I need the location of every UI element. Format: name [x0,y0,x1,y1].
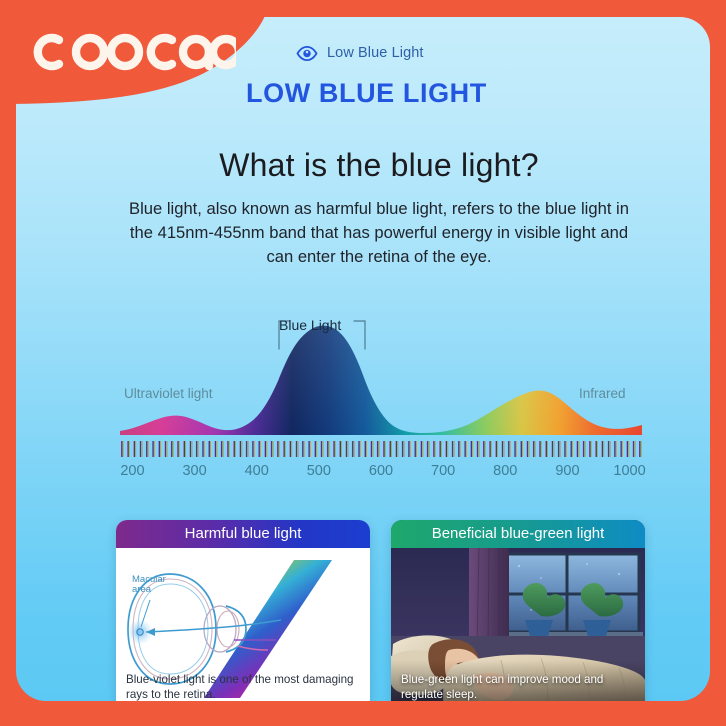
card-harmful-blue-light[interactable]: Harmful blue light [116,520,370,701]
spectrum-tick-mark [502,441,505,457]
spectrum-tick-mark [545,441,548,457]
spectrum-tick-mark [208,441,211,457]
spectrum-tick-mark [364,441,367,457]
spectrum-tick-mark [633,441,636,457]
card-beneficial-blue-green-light[interactable]: Beneficial blue-green light [391,520,645,701]
spectrum-tick-mark [514,441,517,457]
spectrum-tick-mark [165,441,168,457]
ultraviolet-light-label: Ultraviolet light [124,386,213,401]
spectrum-tick-mark [158,441,161,457]
spectrum-tick-mark [452,441,455,457]
card-beneficial-body: Blue-green light can improve mood and re… [391,548,645,701]
spectrum-tick-mark [227,441,230,457]
spectrum-tick-mark [595,441,598,457]
macular-area-label-line2: area [132,584,152,595]
spectrum-tick-mark [252,441,255,457]
spectrum-axis-tick-label: 500 [307,463,331,479]
spectrum-tick-mark [558,441,561,457]
spectrum-axis-tick-label: 300 [182,463,206,479]
coocaa-logo [26,28,236,76]
spectrum-tick-mark [421,441,424,457]
spectrum-tick-mark [339,441,342,457]
spectrum-tick-mark [152,441,155,457]
spectrum-tick-mark [352,441,355,457]
spectrum-tick-mark [533,441,536,457]
spectrum-tick-mark [627,441,630,457]
spectrum-tick-mark [520,441,523,457]
spectrum-tick-mark [446,441,449,457]
spectrum-axis-tick-label: 200 [120,463,144,479]
spectrum-tick-bar [121,441,642,457]
spectrum-tick-mark [477,441,480,457]
spectrum-tick-mark [190,441,193,457]
spectrum-tick-mark [396,441,399,457]
spectrum-tick-mark [402,441,405,457]
spectrum-tick-mark [427,441,430,457]
card-harmful-title: Harmful blue light [116,520,370,548]
spectrum-tick-mark [620,441,623,457]
spectrum-tick-mark [470,441,473,457]
spectrum-tick-mark [377,441,380,457]
spectrum-tick-mark [414,441,417,457]
spectrum-axis-tick-label: 1000 [613,463,645,479]
spectrum-tick-mark [327,441,330,457]
spectrum-axis-tick-label: 600 [369,463,393,479]
spectrum-tick-mark [527,441,530,457]
spectrum-tick-mark [215,441,218,457]
spectrum-tick-mark [127,441,130,457]
spectrum-tick-mark [302,441,305,457]
spectrum-tick-mark [308,441,311,457]
spectrum-tick-mark [552,441,555,457]
spectrum-tick-mark [439,441,442,457]
spectrum-tick-mark [314,441,317,457]
spectrum-tick-mark [296,441,299,457]
spectrum-axis-tick-label: 400 [245,463,269,479]
spectrum-curve-fill [120,313,642,437]
badge-label: Low Blue Light [327,45,424,61]
intro-paragraph: Blue light, also known as harmful blue l… [116,197,642,269]
page-title: What is the blue light? [16,147,710,184]
spectrum-tick-mark [464,441,467,457]
spectrum-tick-mark [358,441,361,457]
spectrum-tick-mark [277,441,280,457]
spectrum-tick-mark [140,441,143,457]
spectrum-axis-tick-label: 700 [431,463,455,479]
spectrum-tick-mark [383,441,386,457]
spectrum-tick-mark [183,441,186,457]
spectrum-tick-mark [202,441,205,457]
spectrum-tick-mark [233,441,236,457]
spectrum-tick-mark [389,441,392,457]
spectrum-tick-mark [346,441,349,457]
spectrum-tick-mark [283,441,286,457]
spectrum-tick-mark [146,441,149,457]
kicker-title: LOW BLUE LIGHT [246,78,487,109]
spectrum-tick-mark [564,441,567,457]
spectrum-tick-mark [458,441,461,457]
spectrum-tick-mark [265,441,268,457]
card-beneficial-caption: Blue-green light can improve mood and re… [401,672,637,701]
spectrum-tick-mark [589,441,592,457]
spectrum-tick-mark [433,441,436,457]
low-blue-light-badge[interactable]: Low Blue Light [296,45,424,61]
content-panel: 2003004005006007008009001000 Ultraviolet… [16,17,710,701]
spectrum-axis-tick-label: 800 [493,463,517,479]
spectrum-tick-mark [489,441,492,457]
spectrum-tick-mark [196,441,199,457]
card-harmful-caption: Blue-violet light is one of the most dam… [126,672,362,701]
spectrum-tick-mark [639,441,642,457]
spectrum-tick-mark [539,441,542,457]
spectrum-tick-mark [495,441,498,457]
spectrum-tick-mark [614,441,617,457]
infrared-label: Infrared [579,386,626,401]
spectrum-tick-mark [133,441,136,457]
spectrum-tick-mark [608,441,611,457]
spectrum-tick-mark [333,441,336,457]
spectrum-tick-mark [371,441,374,457]
blue-light-label: Blue Light [279,317,341,333]
spectrum-tick-mark [508,441,511,457]
spectrum-tick-mark [246,441,249,457]
spectrum-tick-mark [483,441,486,457]
card-beneficial-title: Beneficial blue-green light [391,520,645,548]
card-harmful-body: Macular area Blue-violet light is one of… [116,548,370,701]
spectrum-tick-mark [240,441,243,457]
spectrum-tick-mark [290,441,293,457]
spectrum-tick-mark [258,441,261,457]
infographic-poster: 2003004005006007008009001000 Ultraviolet… [0,0,726,726]
spectrum-tick-mark [171,441,174,457]
spectrum-tick-mark [408,441,411,457]
spectrum-tick-mark [570,441,573,457]
spectrum-tick-mark [121,441,124,457]
spectrum-tick-mark [602,441,605,457]
spectrum-tick-mark [271,441,274,457]
spectrum-tick-mark [177,441,180,457]
spectrum-axis-tick-label: 900 [555,463,579,479]
spectrum-tick-mark [321,441,324,457]
spectrum-tick-mark [583,441,586,457]
spectrum-tick-mark [221,441,224,457]
eye-icon [296,46,318,61]
spectrum-tick-mark [577,441,580,457]
